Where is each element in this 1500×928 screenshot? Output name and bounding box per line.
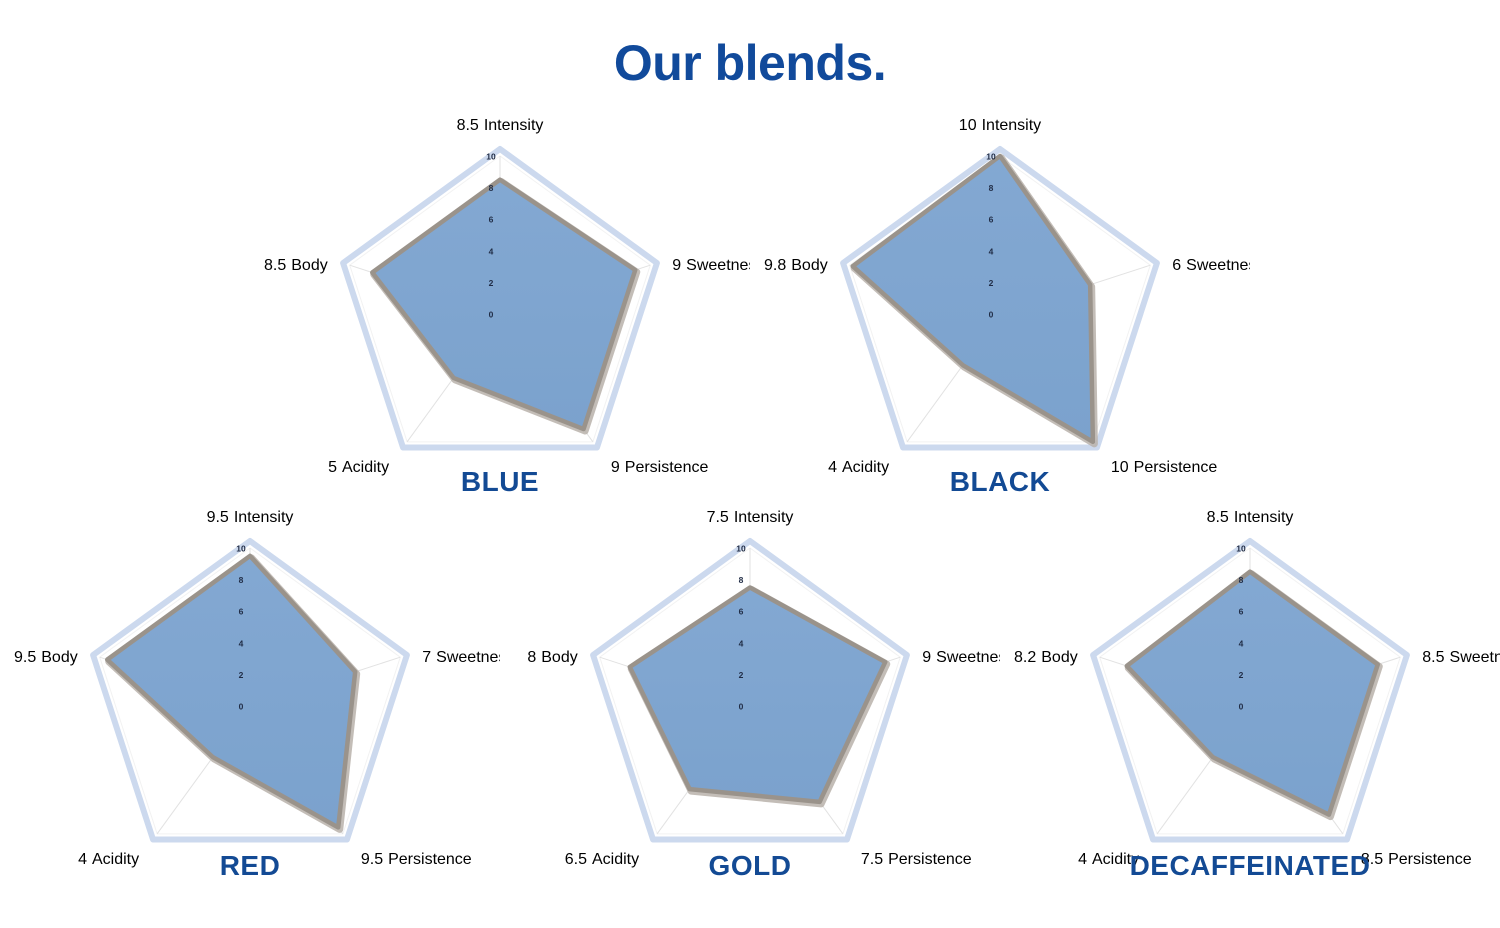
axis-name-intensity: Intensity — [234, 510, 294, 526]
radar-chart-red[interactable]: 10864209.5Intensity7Sweetness9.5Persiste… — [0, 510, 500, 910]
axis-name-intensity: Intensity — [734, 510, 794, 526]
axis-value-sweetness: 8.5 — [1422, 649, 1444, 666]
radar-svg: 10864209.5Intensity7Sweetness9.5Persiste… — [0, 510, 500, 870]
axis-label-group-intensity: 7.5Intensity — [707, 510, 794, 526]
radar-svg: 10864207.5Intensity9Sweetness7.5Persiste… — [500, 510, 1000, 870]
tick-label: 0 — [989, 310, 994, 320]
tick-label: 4 — [739, 638, 744, 648]
axis-value-sweetness: 9 — [672, 257, 681, 274]
tick-label: 8 — [739, 575, 744, 585]
tick-label: 8 — [989, 183, 994, 193]
chart-row-top: 10864208.5Intensity9Sweetness9Persistenc… — [0, 118, 1500, 510]
axis-name-body: Body — [791, 257, 827, 274]
axis-name-body: Body — [1041, 649, 1077, 666]
tick-label: 2 — [1239, 670, 1244, 680]
axis-value-intensity: 7.5 — [707, 510, 729, 526]
axis-label-group-sweetness: 7Sweetness — [422, 649, 500, 666]
axis-label-group-body: 9.8Body — [764, 257, 828, 274]
tick-label: 10 — [986, 152, 996, 162]
axis-value-intensity: 10 — [959, 118, 977, 134]
radar-svg: 10864208.5Intensity8.5Sweetness8.5Persis… — [1000, 510, 1500, 870]
tick-label: 6 — [239, 607, 244, 617]
tick-label: 0 — [1239, 702, 1244, 712]
axis-label-group-sweetness: 9Sweetness — [672, 257, 750, 274]
axis-name-body: Body — [291, 257, 327, 274]
axis-label-group-body: 8.2Body — [1014, 649, 1078, 666]
tick-label: 6 — [989, 215, 994, 225]
page-title: Our blends. — [0, 34, 1500, 92]
tick-label: 0 — [489, 310, 494, 320]
tick-label: 10 — [736, 544, 746, 554]
axis-value-intensity: 8.5 — [457, 118, 479, 134]
tick-label: 0 — [739, 702, 744, 712]
axis-label-group-body: 8.5Body — [264, 257, 328, 274]
tick-label: 10 — [236, 544, 246, 554]
axis-value-sweetness: 7 — [422, 649, 431, 666]
radar-chart-blue[interactable]: 10864208.5Intensity9Sweetness9Persistenc… — [250, 118, 750, 510]
radar-chart-decaffeinated[interactable]: 10864208.5Intensity8.5Sweetness8.5Persis… — [1000, 510, 1500, 910]
axis-label-group-intensity: 10Intensity — [959, 118, 1041, 134]
tick-label: 6 — [1239, 607, 1244, 617]
tick-label: 10 — [486, 152, 496, 162]
radar-svg: 10864208.5Intensity9Sweetness9Persistenc… — [250, 118, 750, 478]
axis-name-body: Body — [541, 649, 577, 666]
axis-value-body: 8.5 — [264, 257, 286, 274]
tick-label: 4 — [1239, 638, 1244, 648]
axis-label-group-intensity: 9.5Intensity — [207, 510, 294, 526]
axis-label-group-sweetness: 8.5Sweetness — [1422, 649, 1500, 666]
tick-label: 4 — [489, 246, 494, 256]
axis-label-group-intensity: 8.5Intensity — [1207, 510, 1294, 526]
blend-name: DECAFFEINATED — [1000, 850, 1500, 882]
axis-name-sweetness: Sweetness — [1186, 257, 1250, 274]
tick-label: 8 — [239, 575, 244, 585]
radar-chart-gold[interactable]: 10864207.5Intensity9Sweetness7.5Persiste… — [500, 510, 1000, 910]
axis-name-sweetness: Sweetness — [936, 649, 1000, 666]
tick-label: 0 — [239, 702, 244, 712]
blend-name: GOLD — [500, 850, 1000, 882]
tick-label: 4 — [989, 246, 994, 256]
tick-label: 2 — [489, 278, 494, 288]
axis-value-body: 8.2 — [1014, 649, 1036, 666]
axis-value-body: 8 — [527, 649, 536, 666]
tick-label: 8 — [1239, 575, 1244, 585]
axis-value-body: 9.5 — [14, 649, 36, 666]
axis-value-intensity: 9.5 — [207, 510, 229, 526]
axis-value-sweetness: 9 — [922, 649, 931, 666]
radar-svg: 108642010Intensity6Sweetness10Persistenc… — [750, 118, 1250, 478]
tick-label: 10 — [1236, 544, 1246, 554]
axis-value-body: 9.8 — [764, 257, 786, 274]
tick-label: 2 — [239, 670, 244, 680]
axis-name-intensity: Intensity — [1234, 510, 1294, 526]
axis-name-sweetness: Sweetness — [1450, 649, 1500, 666]
chart-row-bottom: 10864209.5Intensity7Sweetness9.5Persiste… — [0, 510, 1500, 910]
axis-label-group-sweetness: 9Sweetness — [922, 649, 1000, 666]
axis-label-group-sweetness: 6Sweetness — [1172, 257, 1250, 274]
radar-chart-black[interactable]: 108642010Intensity6Sweetness10Persistenc… — [750, 118, 1250, 510]
tick-label: 6 — [489, 215, 494, 225]
axis-name-body: Body — [41, 649, 77, 666]
axis-value-sweetness: 6 — [1172, 257, 1181, 274]
axis-label-group-intensity: 8.5Intensity — [457, 118, 544, 134]
blend-name: RED — [0, 850, 500, 882]
axis-name-sweetness: Sweetness — [686, 257, 750, 274]
axis-value-intensity: 8.5 — [1207, 510, 1229, 526]
tick-label: 2 — [739, 670, 744, 680]
charts-grid: 10864208.5Intensity9Sweetness9Persistenc… — [0, 118, 1500, 910]
blend-name: BLUE — [250, 466, 750, 498]
tick-label: 6 — [739, 607, 744, 617]
tick-label: 8 — [489, 183, 494, 193]
tick-label: 2 — [989, 278, 994, 288]
blend-name: BLACK — [750, 466, 1250, 498]
axis-name-intensity: Intensity — [484, 118, 544, 134]
axis-name-intensity: Intensity — [982, 118, 1042, 134]
axis-name-sweetness: Sweetness — [436, 649, 500, 666]
axis-label-group-body: 8Body — [527, 649, 577, 666]
tick-label: 4 — [239, 638, 244, 648]
axis-label-group-body: 9.5Body — [14, 649, 78, 666]
